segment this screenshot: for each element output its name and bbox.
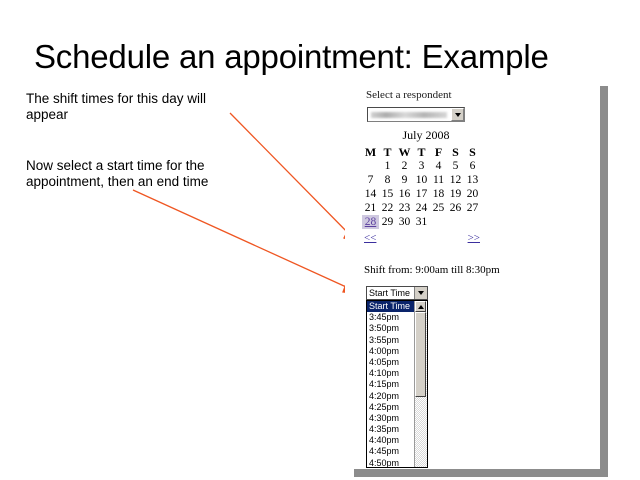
start-time-option[interactable]: 4:15pm bbox=[367, 379, 414, 390]
calendar-weekday: S bbox=[464, 145, 481, 159]
start-time-option-list: Start Time 3:45pm 3:50pm 3:55pm 4:00pm 4… bbox=[367, 301, 414, 467]
calendar-day[interactable]: 20 bbox=[464, 187, 481, 201]
calendar-day[interactable]: 19 bbox=[447, 187, 464, 201]
calendar-day[interactable]: 2 bbox=[396, 159, 413, 173]
start-time-option[interactable]: 4:30pm bbox=[367, 413, 414, 424]
start-time-option-selected[interactable]: Start Time bbox=[367, 301, 414, 312]
start-time-option[interactable]: 4:35pm bbox=[367, 424, 414, 435]
start-time-combobox-value: Start Time bbox=[367, 287, 414, 299]
calendar-widget[interactable]: July 2008 M T W T F S S 1 2 3 bbox=[362, 128, 482, 246]
page-title: Schedule an appointment: Example bbox=[34, 38, 549, 76]
screenshot-shadow-right bbox=[599, 86, 608, 472]
calendar-day[interactable]: 17 bbox=[413, 187, 430, 201]
calendar-day[interactable] bbox=[464, 215, 481, 229]
calendar-navigation: << >> bbox=[362, 232, 480, 246]
start-time-option[interactable]: 4:10pm bbox=[367, 368, 414, 379]
screenshot-shadow-bottom bbox=[354, 468, 608, 477]
start-time-option[interactable]: 4:45pm bbox=[367, 446, 414, 457]
calendar-day[interactable]: 13 bbox=[464, 173, 481, 187]
calendar-day[interactable]: 22 bbox=[379, 201, 396, 215]
calendar-day[interactable]: 5 bbox=[447, 159, 464, 173]
calendar-weekday: T bbox=[379, 145, 396, 159]
start-time-option[interactable]: 4:05pm bbox=[367, 357, 414, 368]
calendar-day[interactable]: 18 bbox=[430, 187, 447, 201]
calendar-day[interactable]: 29 bbox=[379, 215, 396, 229]
calendar-day-selected[interactable]: 28 bbox=[362, 215, 379, 229]
chevron-down-glyph bbox=[418, 291, 424, 295]
start-time-option[interactable]: 4:50pm bbox=[367, 458, 414, 467]
calendar-week-row: 28 29 30 31 bbox=[362, 215, 481, 229]
respondent-selected-value bbox=[368, 108, 451, 121]
calendar-day[interactable]: 25 bbox=[430, 201, 447, 215]
calendar-week-row: 7 8 9 10 11 12 13 bbox=[362, 173, 481, 187]
calendar-day[interactable]: 10 bbox=[413, 173, 430, 187]
respondent-select[interactable] bbox=[367, 107, 465, 122]
calendar-day[interactable]: 1 bbox=[379, 159, 396, 173]
scrollbar-thumb[interactable] bbox=[415, 312, 426, 397]
chevron-up-glyph bbox=[418, 305, 424, 309]
start-time-option[interactable]: 4:25pm bbox=[367, 402, 414, 413]
calendar-week-row: 14 15 16 17 18 19 20 bbox=[362, 187, 481, 201]
arrow-to-calendar bbox=[230, 113, 360, 244]
calendar-day[interactable]: 9 bbox=[396, 173, 413, 187]
calendar-grid: M T W T F S S 1 2 3 4 5 6 bbox=[362, 145, 481, 229]
calendar-day[interactable]: 16 bbox=[396, 187, 413, 201]
calendar-day[interactable]: 31 bbox=[413, 215, 430, 229]
calendar-prev-month-link[interactable]: << bbox=[364, 232, 376, 244]
calendar-day[interactable] bbox=[447, 215, 464, 229]
calendar-next-month-link[interactable]: >> bbox=[468, 232, 480, 244]
calendar-week-row: 1 2 3 4 5 6 bbox=[362, 159, 481, 173]
calendar-day[interactable]: 12 bbox=[447, 173, 464, 187]
annotation-shift-times: The shift times for this day will appear bbox=[26, 91, 241, 123]
start-time-option[interactable]: 4:20pm bbox=[367, 391, 414, 402]
listbox-scrollbar[interactable] bbox=[414, 301, 427, 467]
calendar-day[interactable]: 8 bbox=[379, 173, 396, 187]
calendar-weekday: T bbox=[413, 145, 430, 159]
chevron-down-icon[interactable] bbox=[451, 108, 464, 121]
calendar-day[interactable]: 6 bbox=[464, 159, 481, 173]
start-time-option[interactable]: 4:00pm bbox=[367, 346, 414, 357]
respondent-label: Select a respondent bbox=[366, 89, 452, 101]
calendar-day[interactable]: 3 bbox=[413, 159, 430, 173]
start-time-option[interactable]: 3:45pm bbox=[367, 312, 414, 323]
calendar-week-row: 21 22 23 24 25 26 27 bbox=[362, 201, 481, 215]
calendar-day[interactable]: 14 bbox=[362, 187, 379, 201]
calendar-day[interactable]: 21 bbox=[362, 201, 379, 215]
calendar-weekday: F bbox=[430, 145, 447, 159]
start-time-combobox[interactable]: Start Time bbox=[366, 286, 428, 300]
calendar-weekday: S bbox=[447, 145, 464, 159]
calendar-weekday-row: M T W T F S S bbox=[362, 145, 481, 159]
calendar-month-label: July 2008 bbox=[362, 128, 482, 143]
calendar-day[interactable]: 30 bbox=[396, 215, 413, 229]
arrow-to-start-time bbox=[133, 190, 360, 294]
chevron-down-icon[interactable] bbox=[414, 287, 427, 299]
calendar-day[interactable]: 11 bbox=[430, 173, 447, 187]
calendar-day[interactable]: 27 bbox=[464, 201, 481, 215]
start-time-listbox[interactable]: Start Time 3:45pm 3:50pm 3:55pm 4:00pm 4… bbox=[366, 300, 428, 468]
chevron-down-glyph bbox=[455, 113, 461, 117]
calendar-day-selected-label: 28 bbox=[365, 216, 377, 228]
shift-hours-text: Shift from: 9:00am till 8:30pm bbox=[364, 264, 500, 276]
embedded-app-screenshot: Select a respondent July 2008 M T W T F … bbox=[345, 84, 600, 469]
start-time-option[interactable]: 3:55pm bbox=[367, 335, 414, 346]
calendar-weekday: M bbox=[362, 145, 379, 159]
calendar-day[interactable]: 23 bbox=[396, 201, 413, 215]
annotation-select-start-time: Now select a start time for the appointm… bbox=[26, 158, 241, 190]
calendar-day[interactable]: 26 bbox=[447, 201, 464, 215]
start-time-option[interactable]: 4:40pm bbox=[367, 435, 414, 446]
calendar-day[interactable]: 15 bbox=[379, 187, 396, 201]
calendar-weekday: W bbox=[396, 145, 413, 159]
calendar-day[interactable]: 7 bbox=[362, 173, 379, 187]
start-time-option[interactable]: 3:50pm bbox=[367, 323, 414, 334]
calendar-day[interactable]: 24 bbox=[413, 201, 430, 215]
chevron-up-icon[interactable] bbox=[415, 301, 426, 312]
calendar-day[interactable] bbox=[430, 215, 447, 229]
calendar-day[interactable]: 4 bbox=[430, 159, 447, 173]
calendar-day[interactable] bbox=[362, 159, 379, 173]
